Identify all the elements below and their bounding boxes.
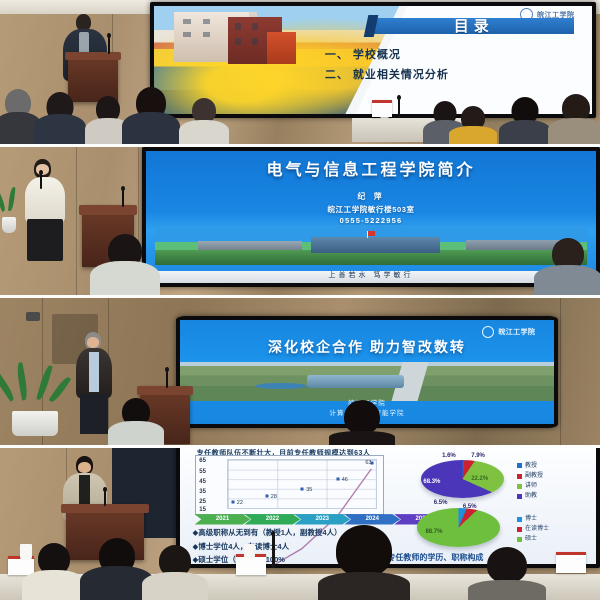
table-microphone-icon	[398, 98, 400, 118]
slide-title: 深化校企合作 助力智改数转	[180, 337, 554, 357]
legend-label: 副教授	[525, 471, 543, 481]
name-plate	[556, 552, 586, 573]
pie-chart-degrees	[417, 508, 500, 546]
handheld-microphone-icon	[40, 173, 42, 189]
y-tick: 35	[199, 489, 206, 495]
audience-member	[320, 524, 408, 600]
slide-title: 目录	[454, 15, 494, 36]
audience-member	[110, 401, 162, 445]
pie-label: 88.7%	[425, 529, 442, 535]
podium-microphone-icon	[122, 189, 124, 207]
pie-label: 22.2%	[471, 476, 488, 482]
legend-label: 在读博士	[525, 524, 549, 534]
audience-member	[180, 100, 228, 144]
speaker-person-3	[74, 332, 114, 434]
podium-microphone-icon	[104, 490, 106, 506]
audience-member	[500, 100, 550, 144]
speaker-person-2	[22, 159, 66, 259]
year-chevron: 2023	[294, 514, 350, 524]
slide-contents-list: 一、 学校概况 二、 就业相关情况分析	[325, 42, 579, 86]
y-tick: 15	[199, 507, 206, 513]
audience-member	[36, 92, 84, 144]
table-microphone-icon	[272, 534, 275, 568]
pie-label: 1.6%	[442, 453, 456, 459]
legend-label: 助教	[525, 491, 537, 501]
contents-item-2: 二、 就业相关情况分析	[325, 66, 579, 82]
y-tick: 25	[199, 499, 206, 505]
year-chevron: 2021	[195, 514, 251, 524]
cup	[244, 544, 255, 559]
collage-panel-2: 电气与信息工程学院简介 纪 萍 皖江工学院敏行楼503室 0555-522295…	[0, 147, 600, 295]
legend-label: 教授	[525, 461, 537, 471]
audience-member	[550, 96, 600, 144]
y-tick: 55	[199, 469, 206, 475]
led-screen-2: 电气与信息工程学院简介 纪 萍 皖江工学院敏行楼503室 0555-522295…	[142, 147, 600, 287]
name-plate	[372, 100, 392, 117]
data-label: 28	[271, 494, 277, 500]
audience-member	[470, 550, 544, 600]
legend-label: 博士	[525, 514, 537, 524]
year-chevron-row: 2021 2022 2023 2024 2025	[195, 514, 445, 524]
legend-label: 讲师	[525, 481, 537, 491]
pie-legend-titles: 教授 副教授 讲师 助教	[517, 461, 543, 502]
data-label: 22	[237, 500, 243, 506]
wall-speaker-icon	[26, 312, 40, 321]
y-tick: 45	[199, 479, 206, 485]
audience-member	[330, 405, 394, 445]
slide-title: 电气与信息工程学院简介	[146, 156, 596, 180]
legend-label: 硕士	[525, 534, 537, 544]
presenter-name: 纪 萍	[146, 191, 596, 202]
slide-title-bar: 目录	[373, 18, 574, 34]
microphone-icon	[108, 36, 110, 54]
data-label: 46	[342, 477, 348, 483]
presenter-address: 皖江工学院敏行楼503室	[146, 204, 596, 215]
plot-area: 22 28 35 46 63	[227, 459, 377, 509]
pie-label: 7.9%	[471, 453, 485, 459]
pie-label: 68.3%	[423, 479, 440, 485]
audience-member	[124, 88, 178, 144]
photo-collage: 皖江工学院 目录 一、 学校概况 二、 就业相关情况分析	[0, 0, 600, 600]
y-tick: 65	[199, 458, 206, 464]
year-chevron: 2022	[244, 514, 300, 524]
collage-panel-1: 皖江工学院 目录 一、 学校概况 二、 就业相关情况分析	[0, 0, 600, 144]
school-motto: 上善若水 笃学敏行	[146, 270, 596, 280]
pie-label: 6.5%	[463, 504, 477, 510]
audience-member	[144, 546, 206, 600]
year-chevron: 2024	[344, 514, 400, 524]
potted-plant	[6, 362, 64, 436]
data-label: 35	[306, 487, 312, 493]
collage-panel-3: 皖江工学院 深化校企合作 助力智改数转 皖江工学院 计算机与人工智能学院	[0, 298, 600, 445]
line-chart: 65 55 45 35 25 15 22 28 35	[195, 455, 384, 515]
data-label: 63	[365, 460, 371, 466]
aerial-campus-photo	[180, 362, 554, 402]
pie-legend-degrees: 博士 在读博士 硕士	[517, 514, 549, 545]
audience-member	[450, 110, 496, 144]
potted-plant	[0, 187, 18, 233]
presenter-phone: 0555-5222956	[146, 216, 596, 225]
audience-member	[92, 233, 158, 295]
contents-item-1: 一、 学校概况	[325, 46, 579, 62]
podium-microphone-icon	[166, 370, 168, 388]
campus-photo	[155, 225, 587, 265]
audience-member	[536, 239, 600, 295]
audience-member	[24, 544, 84, 600]
pie-label: 6.5%	[434, 500, 448, 506]
slide-college-intro: 电气与信息工程学院简介 纪 萍 皖江工学院敏行楼503室 0555-522295…	[146, 151, 596, 283]
collage-panel-4: 专任教师队伍不断壮大，目前专任教师规模达到63人 65 55 45 35 25 …	[0, 448, 600, 600]
